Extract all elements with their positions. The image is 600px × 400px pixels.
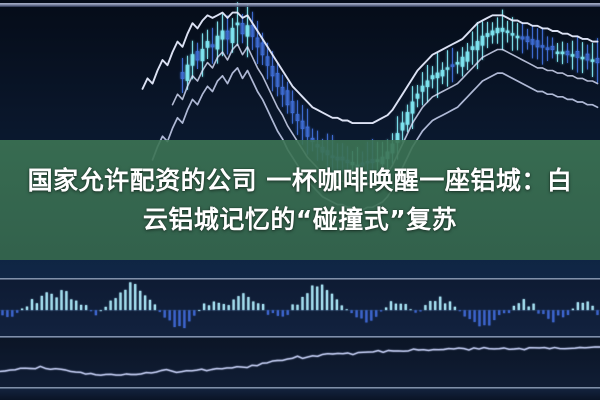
banner-image: 国家允许配资的公司 一杯咖啡唤醒一座铝城：白 云铝城记忆的“碰撞式”复苏	[0, 0, 600, 400]
equity-line-svg	[0, 338, 600, 388]
equity-line-panel	[0, 338, 600, 388]
histogram-bottom-divider	[0, 336, 600, 338]
macd-histogram-panel	[0, 280, 600, 337]
headline: 国家允许配资的公司 一杯咖啡唤醒一座铝城：白 云铝城记忆的“碰撞式”复苏	[0, 140, 600, 260]
footer-divider	[0, 387, 600, 389]
top-divider-line	[0, 3, 600, 7]
histogram-top-divider	[0, 278, 600, 280]
headline-line-1: 国家允许配资的公司 一杯咖啡唤醒一座铝城：白	[28, 164, 573, 197]
footer-strip	[0, 388, 600, 400]
macd-histogram-svg	[0, 280, 600, 337]
headline-line-2: 云铝城记忆的“碰撞式”复苏	[143, 203, 457, 236]
